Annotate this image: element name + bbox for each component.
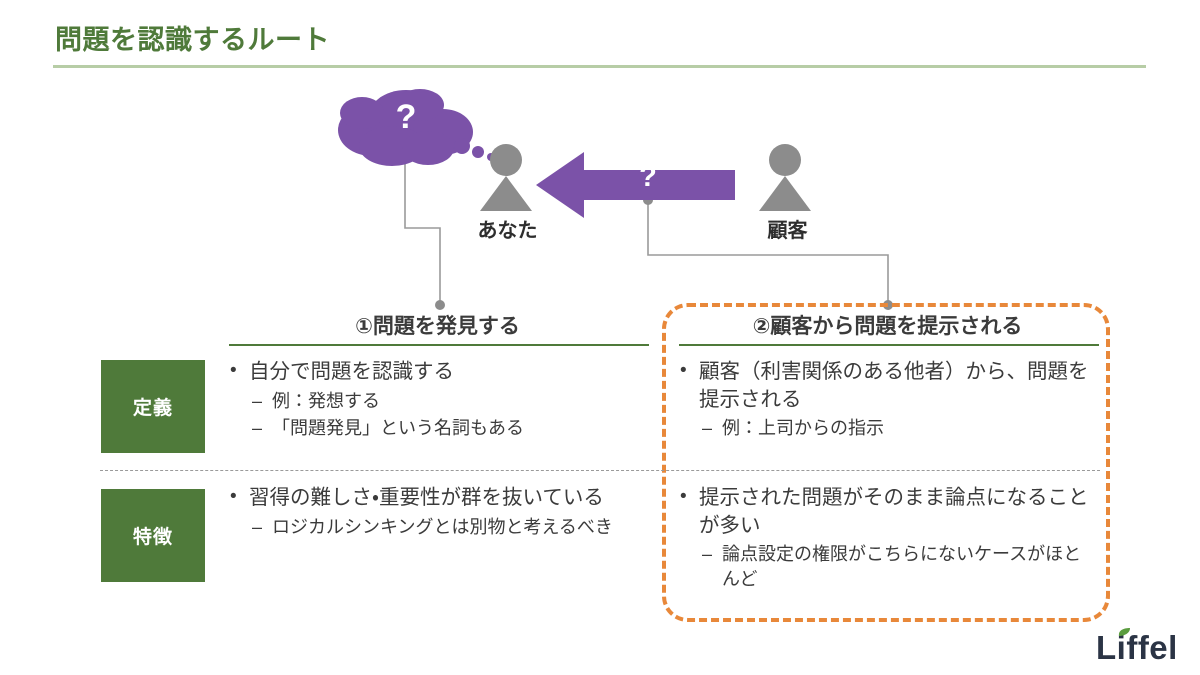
- column-header-1-underline: [229, 344, 649, 346]
- cell-definition-col1: 自分で問題を認識する 例：発想する 「問題発見」という名詞もある: [228, 358, 648, 440]
- bullet-item: 顧客（利害関係のある他者）から、問題を提示される: [678, 358, 1098, 413]
- connector-dot-col1: [435, 300, 445, 310]
- bullet-item: 論点設定の権限がこちらにないケースがほとんど: [678, 542, 1098, 591]
- cell-definition-col2: 顧客（利害関係のある他者）から、問題を提示される 例：上司からの指示: [678, 358, 1098, 441]
- slide-canvas: 問題を認識するルート: [0, 0, 1200, 675]
- brand-logo: Liffel: [1096, 631, 1178, 664]
- row-label-characteristics: 特徴: [101, 489, 205, 582]
- bullet-item: ロジカルシンキングとは別物と考えるべき: [228, 515, 648, 539]
- person-label-customer: 顧客: [735, 214, 840, 243]
- column-header-1: ①問題を発見する: [225, 310, 650, 340]
- title-underline: [53, 65, 1146, 68]
- row-divider: [100, 470, 1100, 471]
- person-label-you: あなた: [455, 214, 560, 243]
- column-header-2-underline: [679, 344, 1099, 346]
- cell-characteristics-col2: 提示された問題がそのまま論点になることが多い 論点設定の権限がこちらにないケース…: [678, 484, 1098, 591]
- column-header-2: ②顧客から問題を提示される: [675, 310, 1100, 340]
- person-customer-icon: [759, 144, 811, 211]
- arrow-question-mark: ?: [628, 163, 668, 192]
- bullet-item: 自分で問題を認識する: [228, 358, 648, 386]
- bullet-item: 例：発想する: [228, 389, 648, 413]
- page-title: 問題を認識するルート: [55, 18, 330, 57]
- bullet-item: 習得の難しさ・重要性が群を抜いている: [228, 484, 648, 512]
- thought-bubble-trail: [454, 138, 495, 161]
- cell-characteristics-col1: 習得の難しさ・重要性が群を抜いている ロジカルシンキングとは別物と考えるべき: [228, 484, 648, 539]
- bullet-item: 「問題発見」という名詞もある: [228, 416, 648, 440]
- thought-bubble-question-mark: ?: [386, 100, 426, 134]
- connector-dot-bubble: [400, 153, 410, 163]
- person-you-icon: [480, 144, 532, 211]
- leaf-icon: [1118, 628, 1131, 637]
- bullet-item: 提示された問題がそのまま論点になることが多い: [678, 484, 1098, 539]
- row-label-definition: 定義: [101, 360, 205, 453]
- connector-dot-arrow: [643, 195, 653, 205]
- bullet-item: 例：上司からの指示: [678, 416, 1098, 440]
- connector-line-left: [405, 158, 440, 305]
